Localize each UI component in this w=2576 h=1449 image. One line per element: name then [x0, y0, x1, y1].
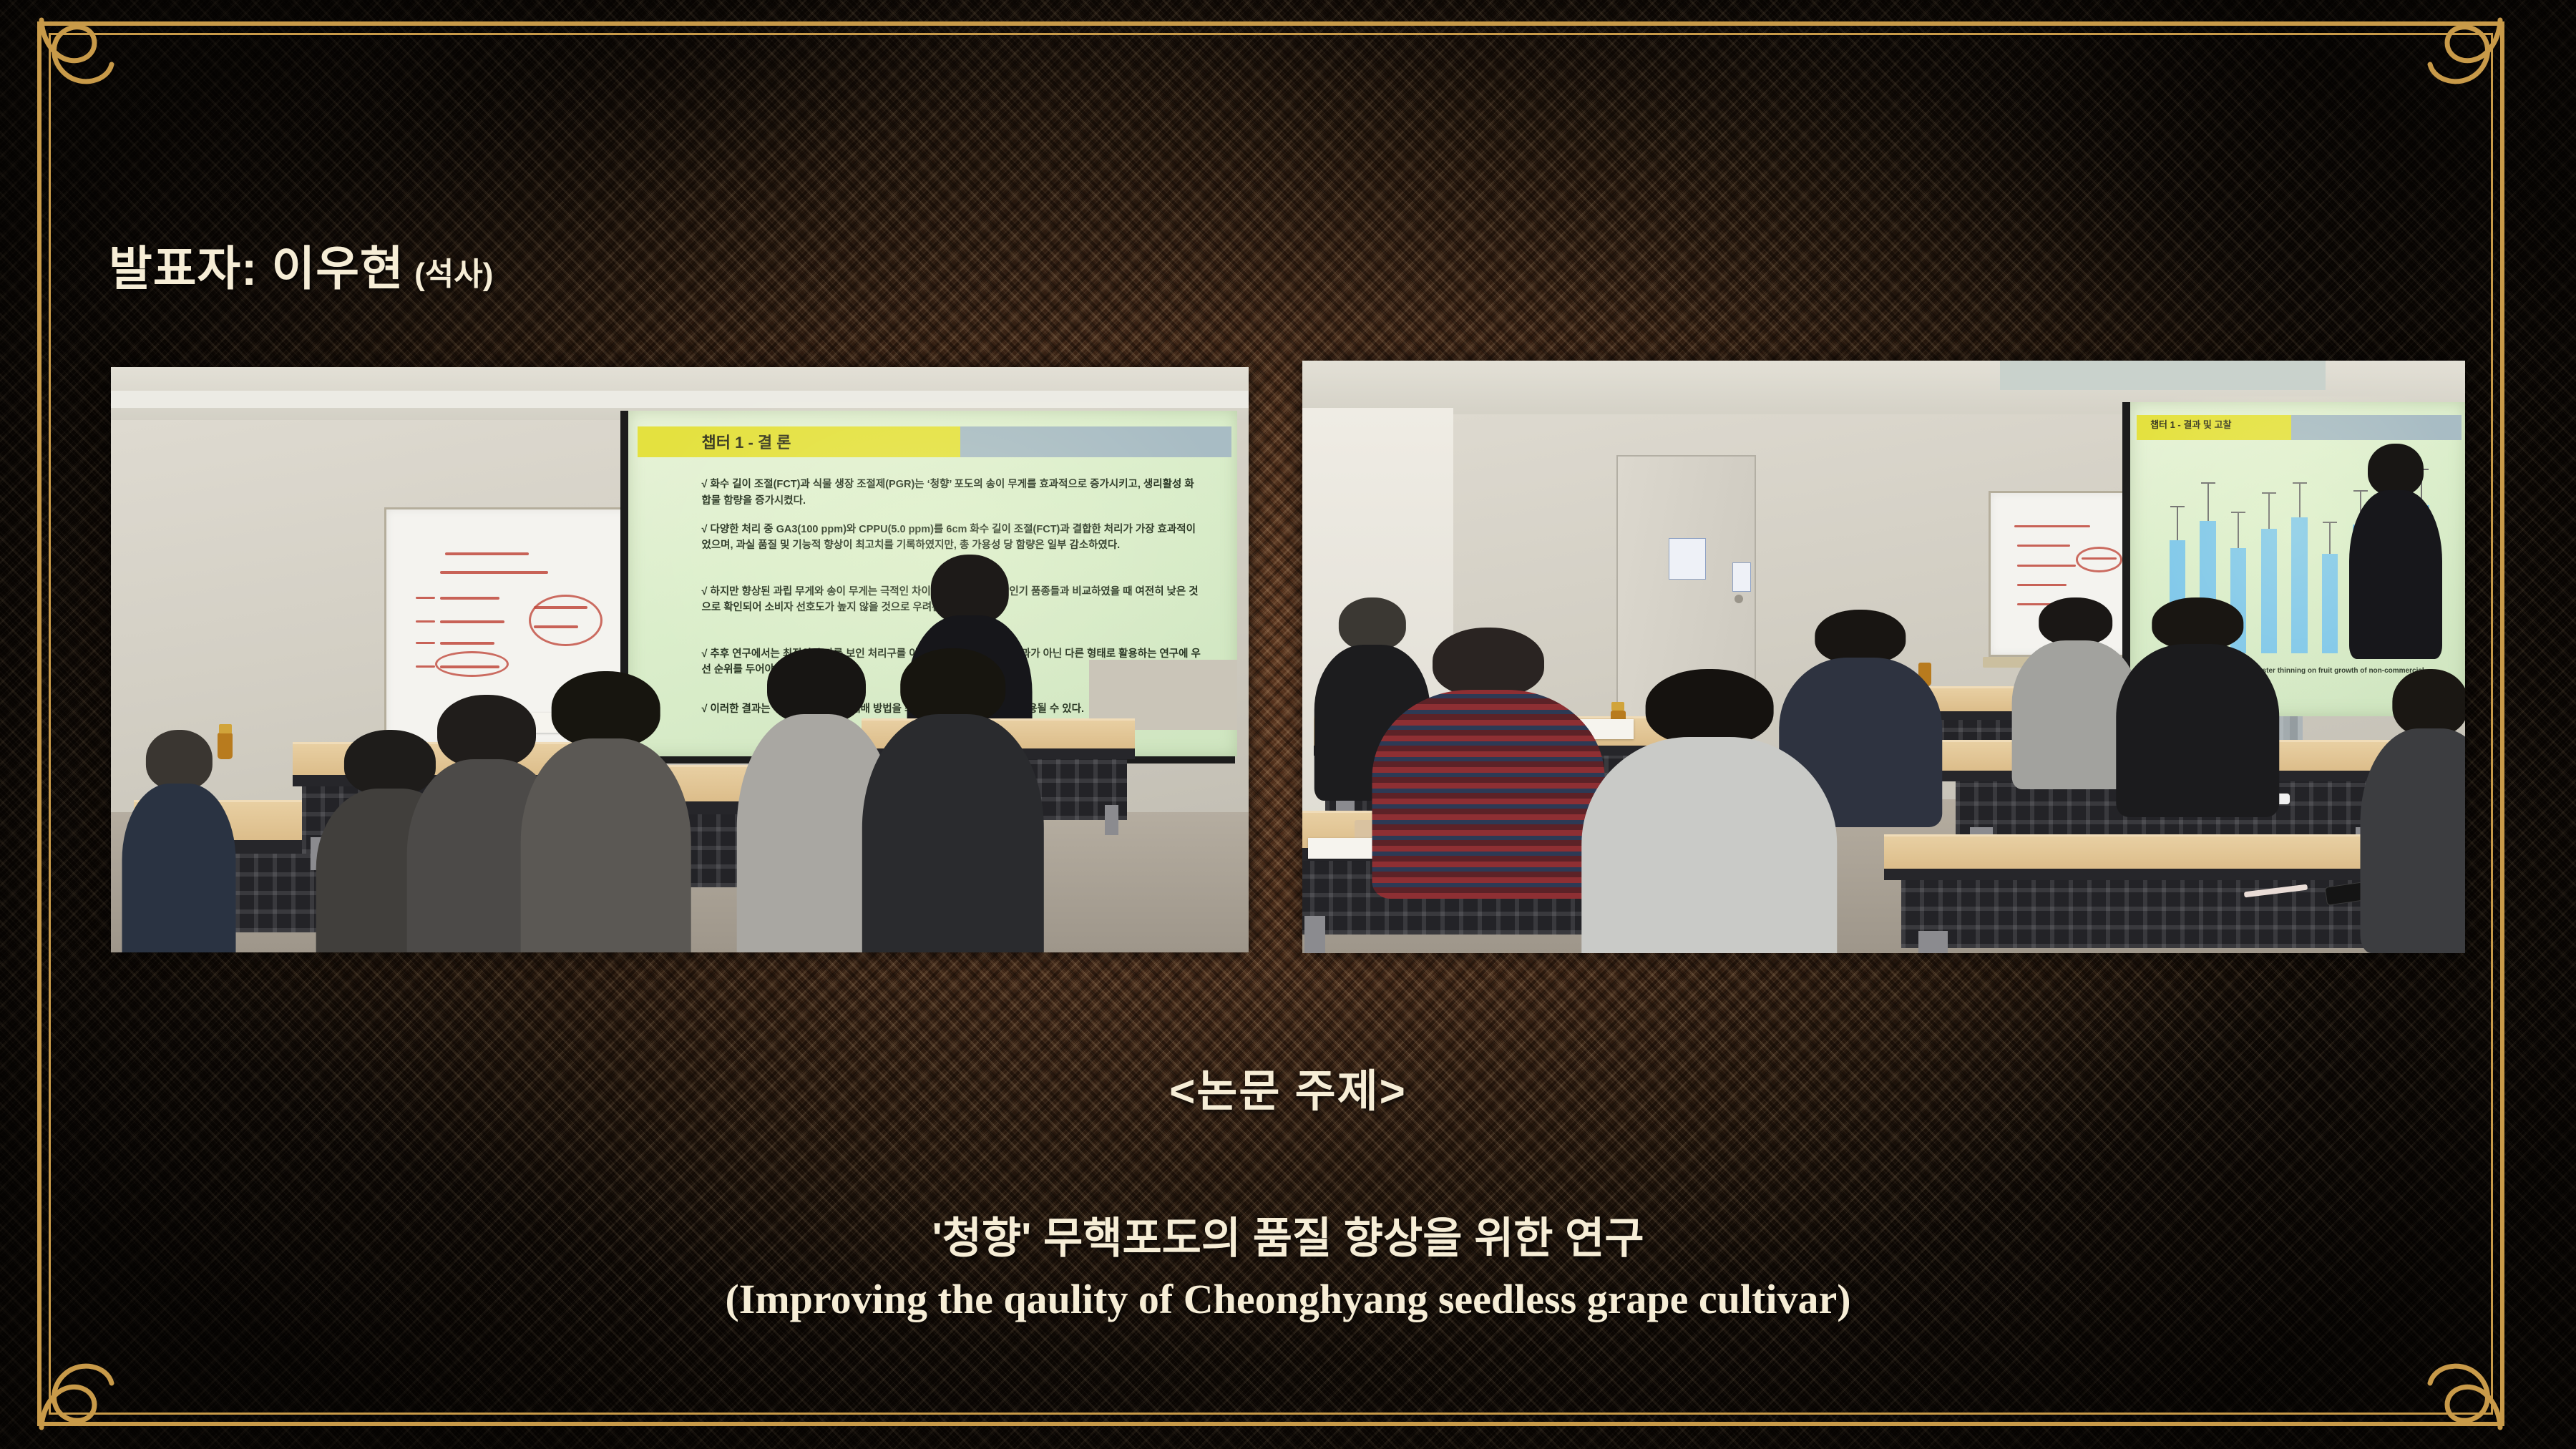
photo-left-presentation: 챕터 1 - 결 론 √ 화수 길이 조절(FCT)과 식물 생장 조절제(PG… — [111, 367, 1249, 952]
audience-member-foreground — [1581, 669, 1838, 953]
thesis-title-english: (Improving the qaulity of Cheonghyang se… — [0, 1275, 2576, 1323]
bar — [2291, 517, 2307, 653]
audience-member — [2361, 669, 2465, 930]
light-switch — [1732, 562, 1751, 592]
audience-member — [520, 671, 691, 952]
presenter-name: 발표자: 이우현 — [109, 242, 404, 295]
slide-bullet-1: √ 화수 길이 조절(FCT)과 식물 생장 조절제(PGR)는 ‘청향’ 포도… — [702, 477, 1201, 509]
door-notice — [1669, 538, 1706, 580]
topic-heading: <논문 주제> — [0, 1055, 2576, 1119]
audience-member — [122, 730, 236, 952]
ceiling-rail — [111, 391, 1249, 409]
presenter — [2349, 444, 2442, 645]
presenter-degree: (석사) — [414, 257, 493, 292]
ceiling-vent — [2000, 361, 2326, 390]
presentation-slide: 발표자: 이우현 (석사) — [0, 0, 2576, 1449]
slide-chapter-label: 챕터 1 - 결과 및 고찰 — [2150, 417, 2291, 431]
slide-chapter-banner-accent — [960, 426, 1231, 457]
slide-chapter-banner-accent — [2291, 415, 2462, 440]
slide-bullet-2: √ 다양한 처리 중 GA3(100 ppm)와 CPPU(5.0 ppm)를 … — [702, 522, 1201, 554]
bar — [2322, 554, 2338, 653]
photo-right-audience: 챕터 1 - 결과 및 고찰 — [1302, 361, 2465, 953]
audience-member-plaid — [1372, 628, 1605, 877]
audience-member — [862, 648, 1043, 952]
thesis-title-korean: '청향' 무핵포도의 품질 향상을 위한 연구 — [0, 1204, 2576, 1266]
audience-member — [2117, 597, 2280, 799]
slide-chapter-label: 챕터 1 - 결 론 — [702, 430, 957, 453]
presenter-line: 발표자: 이우현 (석사) — [109, 230, 493, 299]
